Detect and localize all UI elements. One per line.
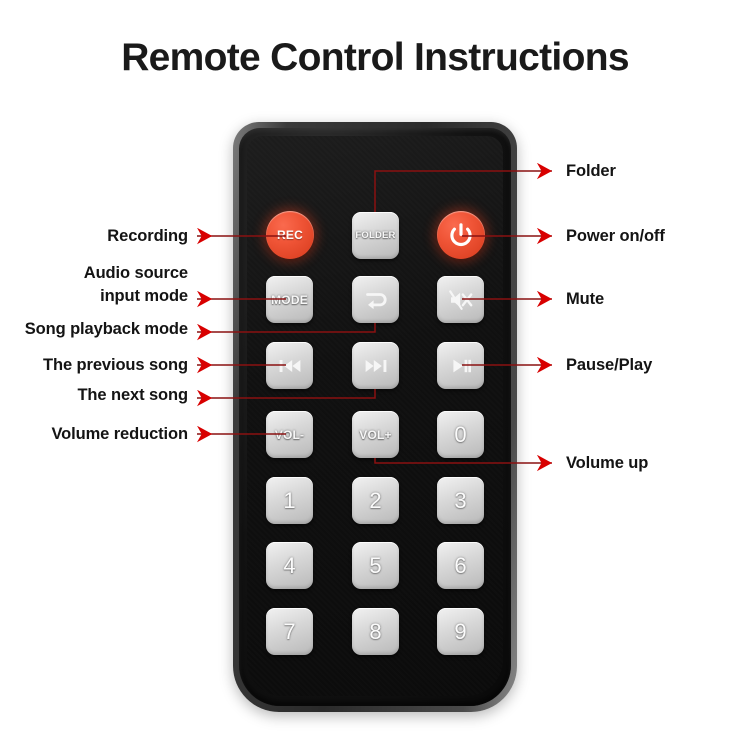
callout-next-song: The next song	[0, 385, 188, 405]
callout-power-onoff: Power on/off	[566, 226, 750, 246]
callout-song-playback-mode: Song playback mode	[0, 319, 188, 339]
remote-button-1[interactable]: 1	[266, 477, 313, 524]
remote-button-7[interactable]: 7	[266, 608, 313, 655]
power-icon	[448, 222, 474, 248]
skip-next-icon	[361, 354, 391, 378]
callout-folder: Folder	[566, 161, 750, 181]
remote-button-3[interactable]: 3	[437, 477, 484, 524]
remote-button-9[interactable]: 9	[437, 608, 484, 655]
remote-button-power[interactable]	[437, 211, 485, 259]
callout-audio-source-line1: Audio source	[0, 263, 188, 283]
remote-button-mode[interactable]: MODE	[266, 276, 313, 323]
callout-mute: Mute	[566, 289, 750, 309]
play-pause-icon	[446, 354, 476, 378]
callout-audio-source-line2: input mode	[0, 286, 188, 306]
remote-button-vol-down[interactable]: VOL-	[266, 411, 313, 458]
remote-button-8[interactable]: 8	[352, 608, 399, 655]
callout-volume-reduction: Volume reduction	[0, 424, 188, 444]
remote-button-play-pause[interactable]	[437, 342, 484, 389]
remote-button-folder[interactable]: FOLDER	[352, 212, 399, 259]
callout-volume-up: Volume up	[566, 453, 750, 473]
remote-button-previous[interactable]	[266, 342, 313, 389]
callout-recording: Recording	[0, 226, 188, 246]
remote-instructions-diagram: Remote Control Instructions REC FOLDER M…	[0, 0, 750, 750]
loop-arrow-icon	[361, 288, 391, 312]
remote-button-vol-up[interactable]: VOL+	[352, 411, 399, 458]
remote-button-rec[interactable]: REC	[266, 211, 314, 259]
callout-previous-song: The previous song	[0, 355, 188, 375]
remote-button-5[interactable]: 5	[352, 542, 399, 589]
remote-button-4[interactable]: 4	[266, 542, 313, 589]
mute-speaker-icon	[446, 288, 476, 312]
remote-button-mute[interactable]	[437, 276, 484, 323]
remote-button-0[interactable]: 0	[437, 411, 484, 458]
skip-previous-icon	[275, 354, 305, 378]
remote-button-6[interactable]: 6	[437, 542, 484, 589]
remote-button-repeat[interactable]	[352, 276, 399, 323]
remote-button-next[interactable]	[352, 342, 399, 389]
page-title: Remote Control Instructions	[0, 36, 750, 80]
remote-button-2[interactable]: 2	[352, 477, 399, 524]
callout-pause-play: Pause/Play	[566, 355, 750, 375]
